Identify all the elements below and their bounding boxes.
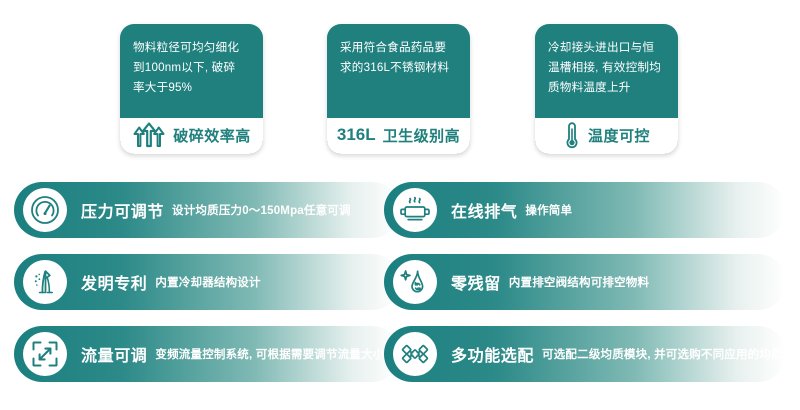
card-footer-label: 破碎效率高 — [173, 125, 251, 146]
feature-bar-title: 零残留 — [451, 270, 501, 294]
feature-bar-row: 流量可调 变频流量控制系统, 可根据需要调节流量大小 — [0, 326, 800, 382]
thermometer-icon — [563, 121, 581, 149]
feature-card-temperature-control[interactable]: 冷却接头进出口与恒 温槽相接, 有效控制均 质物料温度上升 温度可控 — [535, 24, 678, 154]
feature-bar-subtitle: 变频流量控制系统, 可根据需要调节流量大小 — [155, 346, 384, 362]
feature-bar-title: 发明专利 — [81, 270, 147, 294]
feature-bar-multifunction-options[interactable]: 多功能选配 可选配二级均质模块, 并可选购不同应用的均质阀 — [384, 326, 786, 382]
feature-card-crushing-efficiency[interactable]: 物料粒径可均匀细化 到100nm以下, 破碎 率大于95% 破碎效率高 — [120, 24, 263, 154]
card-body: 冷却接头进出口与恒 温槽相接, 有效控制均 质物料温度上升 — [535, 24, 678, 118]
feature-bar-row: 发明专利 内置冷却器结构设计 零残留 内置排空阀结构可排空物料 — [0, 254, 800, 310]
feature-bar-subtitle: 操作简单 — [525, 202, 572, 218]
feature-bar-subtitle: 设计均质压力0～150Mpa任意可调 — [172, 202, 351, 218]
card-footer-label: 卫生级别高 — [383, 125, 461, 146]
feature-bars: 压力可调节 设计均质压力0～150Mpa任意可调 在线排气 — [0, 182, 800, 398]
feature-bar-zero-residue[interactable]: 零残留 内置排空阀结构可排空物料 — [384, 254, 786, 310]
water-droplet-sparkle-icon — [393, 260, 437, 304]
feature-bar-row: 压力可调节 设计均质压力0～150Mpa任意可调 在线排气 — [0, 182, 800, 238]
degassing-vessel-icon — [393, 188, 437, 232]
feature-bar-title: 多功能选配 — [451, 342, 534, 366]
feature-cards-row: 物料粒径可均匀细化 到100nm以下, 破碎 率大于95% 破碎效率高 采用符合… — [0, 24, 800, 159]
feature-card-sanitary-grade[interactable]: 采用符合食品药品要 求的316L不锈钢材料 316L 卫生级别高 — [327, 24, 470, 154]
gauge-icon — [23, 188, 67, 232]
feature-bar-online-degassing[interactable]: 在线排气 操作简单 — [384, 182, 786, 238]
card-description: 采用符合食品药品要 求的316L不锈钢材料 — [340, 38, 458, 78]
card-footer: 温度可控 — [535, 118, 678, 154]
card-body: 采用符合食品药品要 求的316L不锈钢材料 — [327, 24, 470, 118]
patent-icon — [23, 260, 67, 304]
feature-bar-title: 流量可调 — [81, 342, 147, 366]
feature-bar-pressure-adjustable[interactable]: 压力可调节 设计均质压力0～150Mpa任意可调 — [14, 182, 400, 238]
modular-nodes-icon — [393, 332, 437, 376]
card-footer: 破碎效率高 — [120, 118, 263, 154]
feature-bar-flow-adjustable[interactable]: 流量可调 变频流量控制系统, 可根据需要调节流量大小 — [14, 326, 400, 382]
card-footer-label: 温度可控 — [588, 125, 650, 146]
card-footer: 316L 卫生级别高 — [327, 118, 470, 154]
feature-bar-subtitle: 内置排空阀结构可排空物料 — [509, 274, 649, 290]
feature-bar-subtitle: 内置冷却器结构设计 — [155, 274, 260, 290]
card-description: 冷却接头进出口与恒 温槽相接, 有效控制均 质物料温度上升 — [548, 38, 666, 98]
card-description: 物料粒径可均匀细化 到100nm以下, 破碎 率大于95% — [133, 38, 251, 98]
three-up-arrows-icon — [132, 122, 166, 148]
expand-arrows-icon — [23, 332, 67, 376]
feature-bar-title: 在线排气 — [451, 198, 517, 222]
card-footer-code: 316L — [337, 125, 376, 145]
feature-bar-invention-patent[interactable]: 发明专利 内置冷却器结构设计 — [14, 254, 400, 310]
feature-bar-title: 压力可调节 — [81, 198, 164, 222]
card-body: 物料粒径可均匀细化 到100nm以下, 破碎 率大于95% — [120, 24, 263, 118]
feature-bar-subtitle: 可选配二级均质模块, 并可选购不同应用的均质阀 — [542, 346, 786, 362]
